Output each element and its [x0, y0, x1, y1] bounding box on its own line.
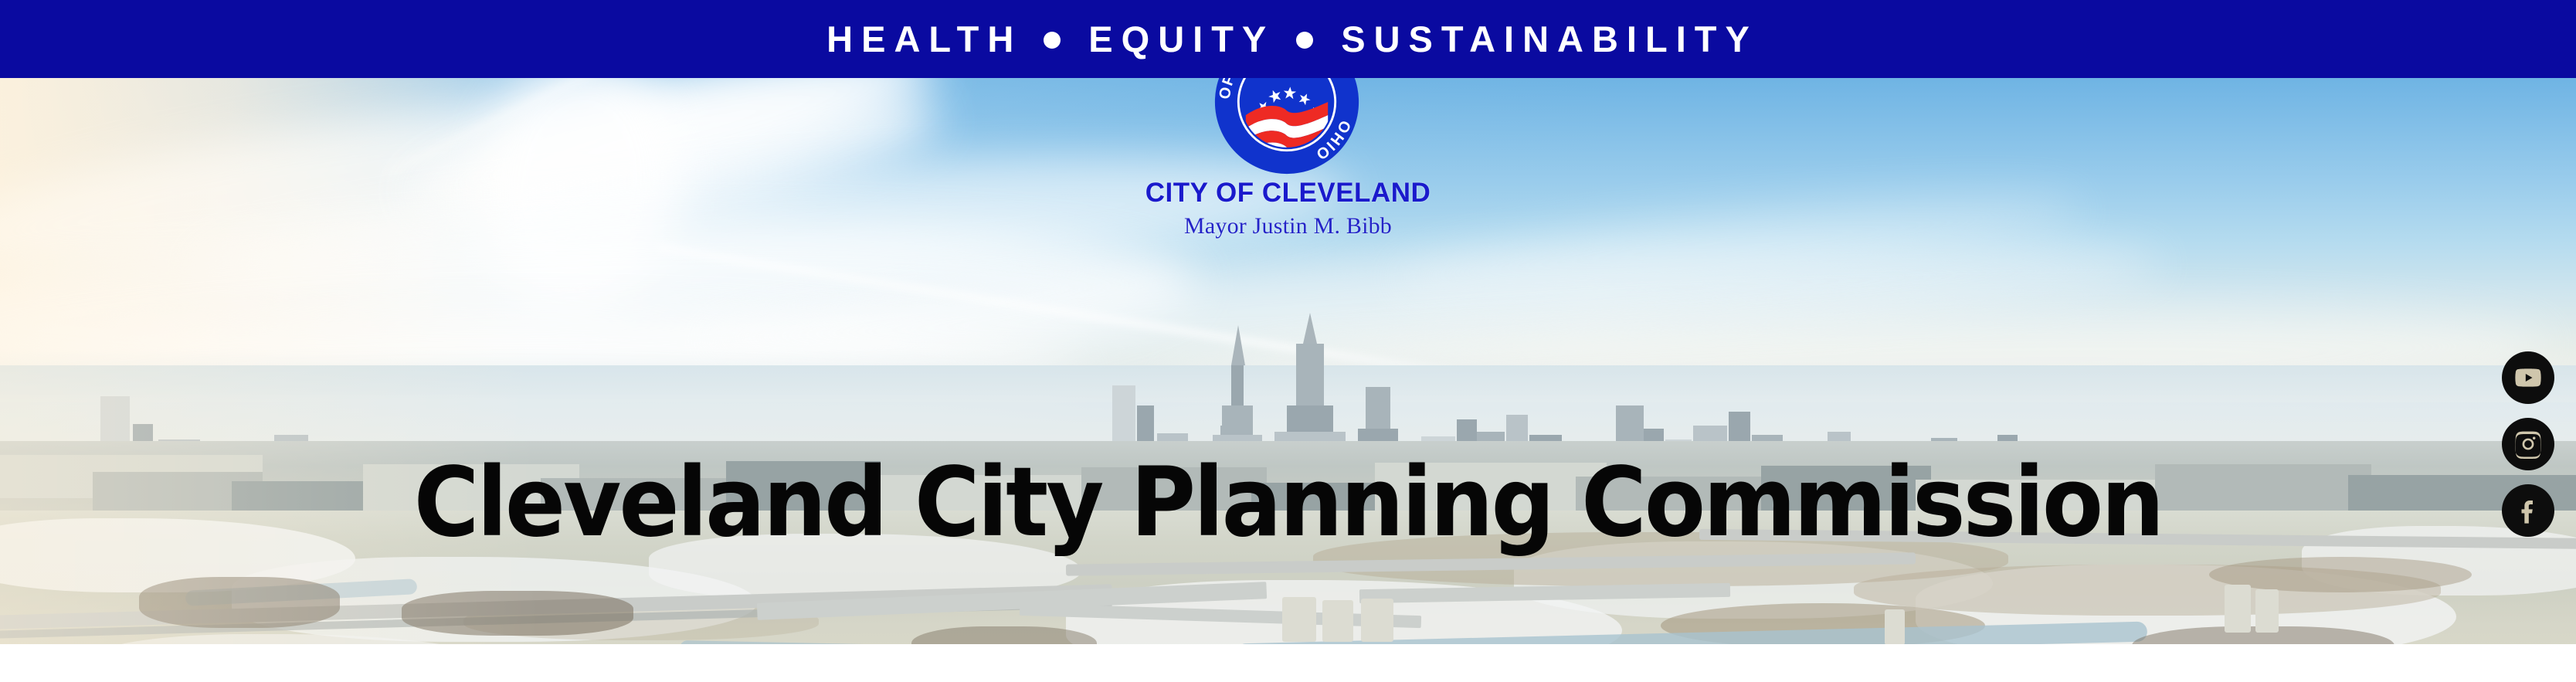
footer-whitespace	[0, 644, 2576, 682]
social-links-rail	[2502, 351, 2554, 537]
youtube-link[interactable]	[2502, 351, 2554, 404]
instagram-link[interactable]	[2502, 418, 2554, 470]
tagline-banner: HEALTH EQUITY SUSTAINABILITY	[0, 0, 2576, 78]
tagline-word-sustainability: SUSTAINABILITY	[1341, 21, 1758, 57]
tagline-word-equity: EQUITY	[1088, 21, 1274, 57]
bullet-dot-icon	[1044, 32, 1061, 49]
youtube-icon	[2513, 362, 2544, 393]
instagram-icon	[2513, 429, 2544, 460]
river-valley-foreground	[0, 511, 2576, 644]
page-root: HEALTH EQUITY SUSTAINABILITY	[0, 0, 2576, 682]
facebook-icon	[2513, 495, 2544, 526]
tagline-word-health: HEALTH	[826, 21, 1022, 57]
tagline-text-group: HEALTH EQUITY SUSTAINABILITY	[818, 21, 1758, 57]
facebook-link[interactable]	[2502, 484, 2554, 537]
bullet-dot-icon	[1296, 32, 1313, 49]
